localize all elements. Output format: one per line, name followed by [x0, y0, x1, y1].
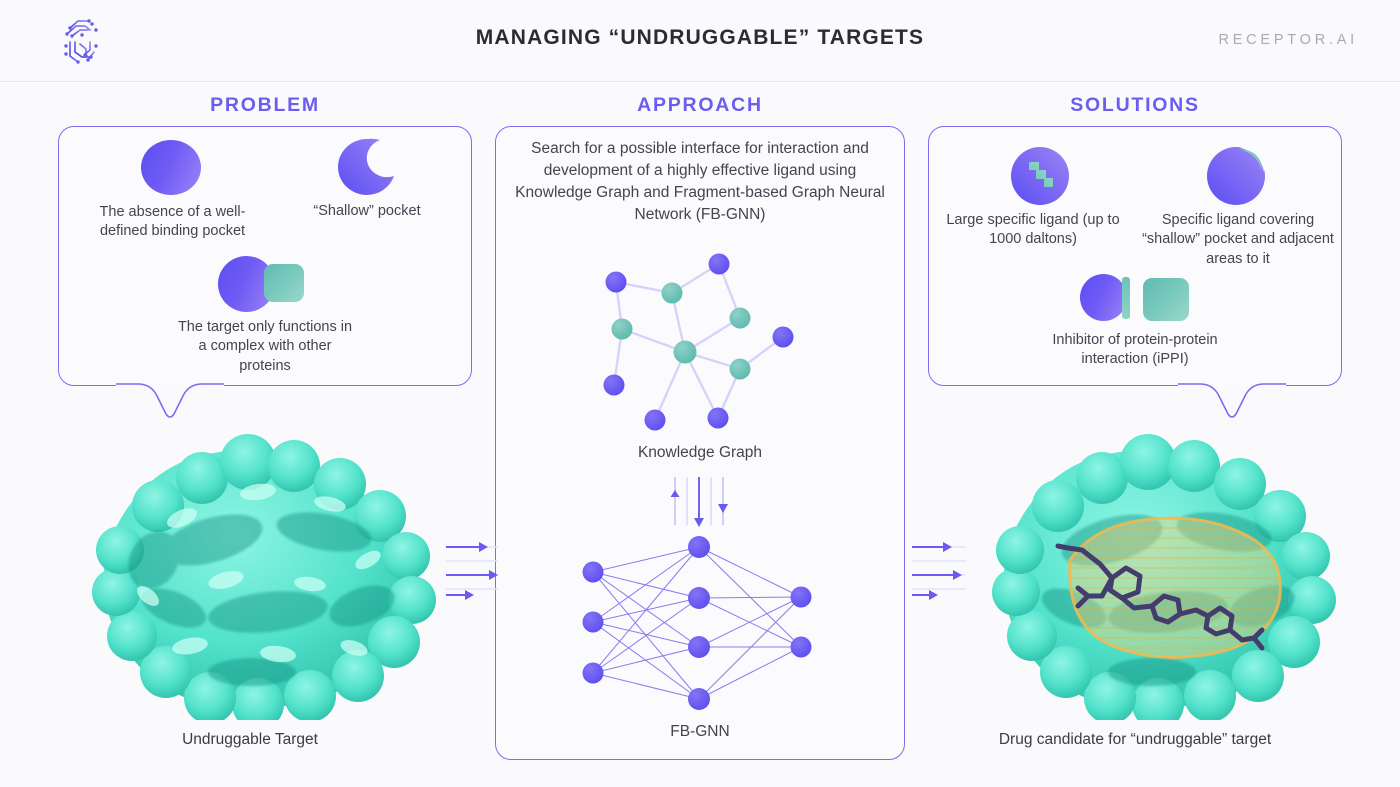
approach-description: Search for a possible interface for inte…: [505, 138, 895, 226]
right-figure-caption: Drug candidate for “undruggable” target: [930, 731, 1340, 749]
fbgnn-diagram: [495, 520, 905, 720]
solid-circle-icon: [141, 140, 201, 195]
complex-square-icon: [264, 264, 304, 302]
problem-caption-1: “Shallow” pocket: [288, 202, 446, 221]
left-figure-caption: Undruggable Target: [60, 731, 440, 749]
solution-caption-2: Inhibitor of protein-protein interaction…: [1025, 331, 1245, 370]
column-heading-solutions: SOLUTIONS: [928, 94, 1342, 117]
solution-caption-1: Specific ligand covering “shallow” pocke…: [1140, 211, 1336, 269]
fbgnn-label: FB-GNN: [545, 723, 855, 741]
protein-surface-icon: [62, 400, 437, 720]
circle-with-teal-lens-icon: [1205, 146, 1267, 206]
problem-caption-2: The target only functions in a complex w…: [175, 318, 355, 376]
protein-surface-with-ligand-icon: [962, 400, 1337, 720]
page-title: MANAGING “UNDRUGGABLE” TARGETS: [0, 26, 1400, 50]
ippi-square-icon: [1143, 278, 1189, 321]
column-heading-approach: APPROACH: [495, 94, 905, 117]
knowledge-graph-diagram: [495, 246, 905, 446]
arrows-right-icon: [908, 535, 970, 605]
ippi-bar-icon: [1122, 277, 1130, 319]
arrows-left-icon: [440, 535, 502, 605]
knowledge-graph-label: Knowledge Graph: [545, 444, 855, 462]
brand-wordmark: RECEPTOR.AI: [1218, 32, 1358, 48]
page-header: MANAGING “UNDRUGGABLE” TARGETS RECEPTOR.…: [0, 0, 1400, 82]
column-heading-problem: PROBLEM: [58, 94, 472, 117]
circle-with-fragment-ligand-icon: [1009, 146, 1071, 206]
circle-with-notch-icon: [336, 138, 398, 196]
solution-caption-0: Large specific ligand (up to 1000 dalton…: [940, 211, 1126, 250]
problem-caption-0: The absence of a well-defined binding po…: [85, 203, 260, 242]
ippi-circle-icon: [1080, 274, 1127, 321]
